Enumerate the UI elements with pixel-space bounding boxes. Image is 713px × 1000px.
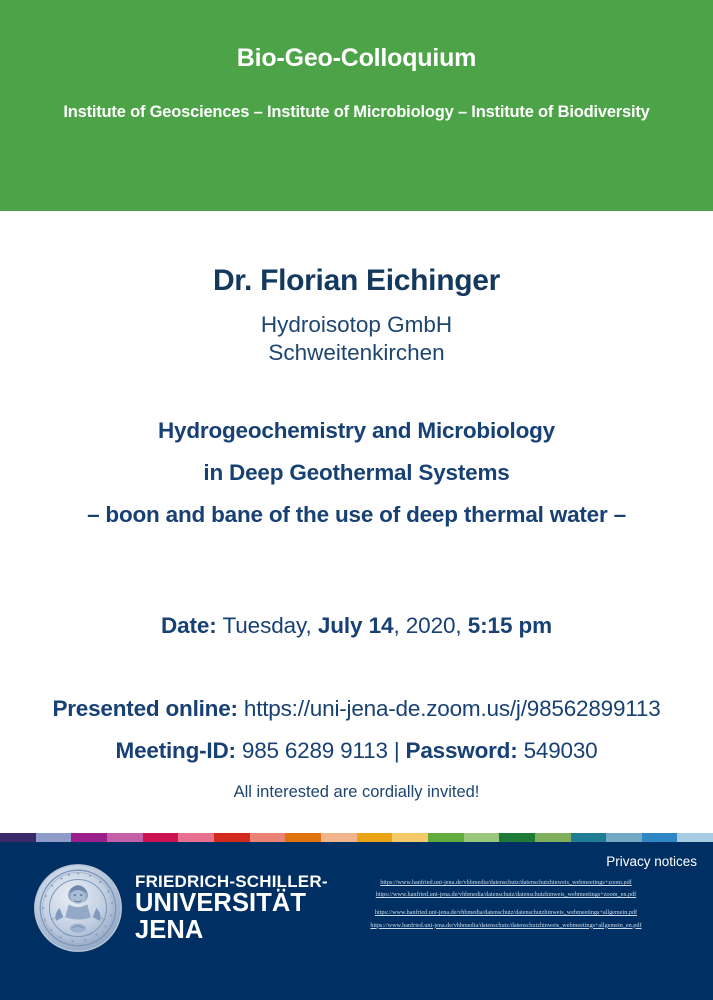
stripe-segment-19 — [642, 833, 678, 842]
meeting-credentials: Meeting-ID: 985 6289 9113 | Password: 54… — [0, 738, 713, 764]
credentials-separator: | — [394, 738, 406, 763]
date-label: Date: — [161, 613, 217, 638]
stripe-segment-14 — [464, 833, 500, 842]
colloquium-title: Bio-Geo-Colloquium — [0, 44, 713, 73]
university-logo: FRIEDRICH-SCHILLER- UNIVERSITÄT JENA — [32, 862, 328, 954]
date-time: 5:15 pm — [468, 613, 552, 638]
privacy-notice-links: https://www.hanfried.uni-jena.de/vhbmedi… — [311, 880, 701, 929]
stripe-segment-13 — [428, 833, 464, 842]
color-stripe — [0, 833, 713, 842]
stripe-segment-10 — [321, 833, 357, 842]
privacy-link-3[interactable]: https://www.hanfried.uni-jena.de/vhbmedi… — [311, 910, 701, 916]
talk-title-line-3: – boon and bane of the use of deep therm… — [87, 502, 626, 527]
talk-title-line-2: in Deep Geothermal Systems — [203, 460, 509, 485]
speaker-name: Dr. Florian Eichinger — [0, 264, 713, 298]
stripe-segment-8 — [250, 833, 286, 842]
zoom-url[interactable]: https://uni-jena-de.zoom.us/j/9856289911… — [238, 696, 661, 721]
wordmark-line-3: JENA — [135, 918, 328, 944]
privacy-link-4[interactable]: https://www.hanfried.uni-jena.de/vhbmedi… — [311, 923, 701, 929]
institutes-subtitle: Institute of Geosciences – Institute of … — [0, 103, 713, 122]
stripe-segment-2 — [36, 833, 72, 842]
poster-footer: FRIEDRICH-SCHILLER- UNIVERSITÄT JENA Pri… — [0, 842, 713, 1000]
wordmark-line-1: FRIEDRICH-SCHILLER- — [135, 873, 328, 890]
stripe-segment-18 — [606, 833, 642, 842]
stripe-segment-17 — [571, 833, 607, 842]
stripe-segment-1 — [0, 833, 36, 842]
password-label: Password: — [406, 738, 518, 763]
speaker-affiliation: Hydroisotop GmbH Schweitenkirchen — [0, 311, 713, 368]
online-access: Presented online: https://uni-jena-de.zo… — [0, 696, 713, 722]
date-year: , 2020, — [393, 613, 467, 638]
poster-header: Bio-Geo-Colloquium Institute of Geoscien… — [0, 0, 713, 211]
poster-body: Dr. Florian Eichinger Hydroisotop GmbH S… — [0, 211, 713, 833]
meeting-id-label: Meeting-ID: — [116, 738, 236, 763]
university-wordmark: FRIEDRICH-SCHILLER- UNIVERSITÄT JENA — [135, 873, 328, 943]
affiliation-organization: Hydroisotop GmbH — [261, 312, 452, 337]
stripe-segment-9 — [285, 833, 321, 842]
privacy-link-1[interactable]: https://www.hanfried.uni-jena.de/vhbmedi… — [311, 880, 701, 886]
invitation-note: All interested are cordially invited! — [0, 783, 713, 802]
stripe-segment-15 — [499, 833, 535, 842]
poster: Bio-Geo-Colloquium Institute of Geoscien… — [0, 0, 713, 1000]
date-day: July 14 — [318, 613, 394, 638]
wordmark-line-2: UNIVERSITÄT — [135, 891, 328, 917]
affiliation-location: Schweitenkirchen — [268, 340, 444, 365]
talk-title-line-1: Hydrogeochemistry and Microbiology — [158, 418, 555, 443]
stripe-segment-6 — [178, 833, 214, 842]
university-seal-icon — [32, 862, 124, 954]
stripe-segment-4 — [107, 833, 143, 842]
stripe-segment-7 — [214, 833, 250, 842]
meeting-id-value: 985 6289 9113 — [236, 738, 394, 763]
stripe-segment-11 — [357, 833, 393, 842]
stripe-segment-5 — [143, 833, 179, 842]
date-weekday: Tuesday, — [217, 613, 318, 638]
stripe-segment-16 — [535, 833, 571, 842]
stripe-segment-12 — [392, 833, 428, 842]
talk-title: Hydrogeochemistry and Microbiology in De… — [0, 410, 713, 536]
stripe-segment-3 — [71, 833, 107, 842]
event-date: Date: Tuesday, July 14, 2020, 5:15 pm — [0, 613, 713, 639]
stripe-segment-20 — [677, 833, 713, 842]
privacy-notices-title: Privacy notices — [606, 854, 697, 869]
privacy-link-2[interactable]: https://www.hanfried.uni-jena.de/vhbmedi… — [311, 892, 701, 898]
presented-online-label: Presented online: — [52, 696, 237, 721]
password-value: 549030 — [518, 738, 598, 763]
